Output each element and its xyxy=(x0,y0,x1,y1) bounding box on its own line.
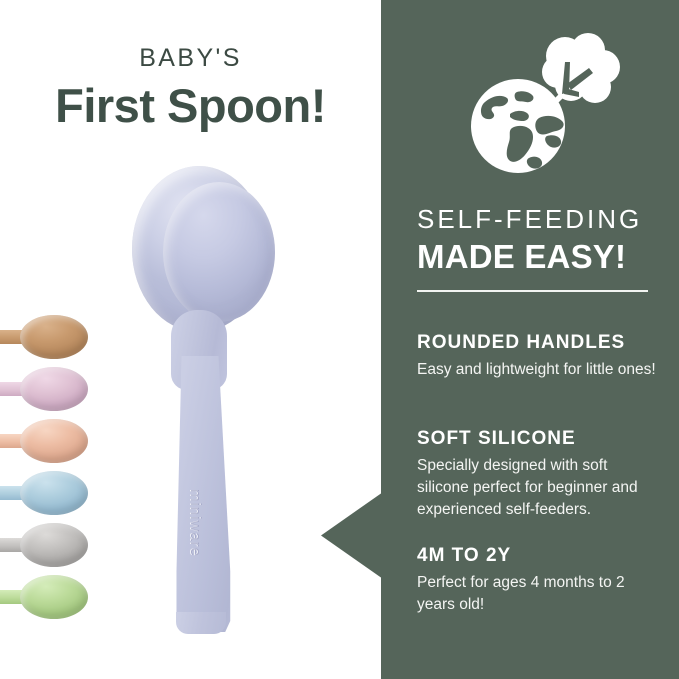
feature-body: Perfect for ages 4 months to 2 years old… xyxy=(417,572,659,616)
spoon-bowl-inner xyxy=(163,182,275,322)
feature-rounded-handles: ROUNDED HANDLES Easy and lightweight for… xyxy=(417,332,659,381)
product-infographic: BABY'S First Spoon! miniware xyxy=(0,0,679,679)
swatch-bowl xyxy=(20,315,88,359)
swatch-bowl xyxy=(20,419,88,463)
swatch-bowl xyxy=(20,575,88,619)
feature-body: Specially designed with soft silicone pe… xyxy=(417,455,659,521)
swatch-bowl xyxy=(20,523,88,567)
page-title: First Spoon! xyxy=(0,78,381,133)
feature-soft-silicone: SOFT SILICONE Specially designed with so… xyxy=(417,428,659,521)
panel-kicker-text: SELF-FEEDING xyxy=(381,204,679,235)
spoon-bowl xyxy=(132,166,266,332)
left-panel: BABY'S First Spoon! miniware xyxy=(0,0,381,679)
divider xyxy=(417,290,648,292)
color-swatch-green xyxy=(0,575,90,619)
color-swatch-toffee xyxy=(0,315,90,359)
color-swatch-peach xyxy=(0,419,90,463)
swatch-bowl xyxy=(20,471,88,515)
color-swatch-sky-blue xyxy=(0,471,90,515)
spoon-handle-base xyxy=(176,612,226,634)
feature-title: ROUNDED HANDLES xyxy=(417,332,659,354)
color-swatch-lilac-pink xyxy=(0,367,90,411)
brand-logo-emboss: miniware xyxy=(182,468,208,578)
globe-sprout-icon xyxy=(461,22,621,182)
feature-title: SOFT SILICONE xyxy=(417,428,659,450)
main-spoon-image: miniware xyxy=(112,160,292,640)
swatch-bowl xyxy=(20,367,88,411)
feature-body: Easy and lightweight for little ones! xyxy=(417,359,659,381)
feature-age-range: 4M TO 2Y Perfect for ages 4 months to 2 … xyxy=(417,545,659,616)
feature-title: 4M TO 2Y xyxy=(417,545,659,567)
panel-headline-text: MADE EASY! xyxy=(381,238,679,276)
kicker-text: BABY'S xyxy=(0,44,381,73)
color-swatch-grey xyxy=(0,523,90,567)
